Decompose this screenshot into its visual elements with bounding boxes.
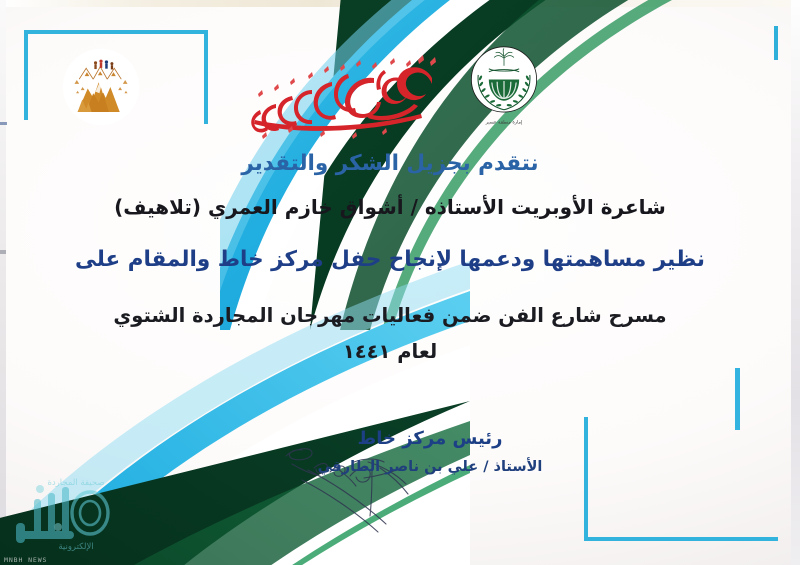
certificate-body: نتقدم بجزيل الشكر والتقدير شاعرة الأوبري… [40, 148, 740, 372]
frame-accent-right-middle [735, 368, 740, 430]
tribal-mountain-circular-logo [62, 48, 140, 126]
edge-mark-left-upper [0, 122, 7, 125]
calligraphy-svg [232, 48, 452, 144]
frame-bracket-bottom-right [584, 417, 778, 541]
emirate-of-asir-emblem: إمارة منطقة عسير [466, 40, 542, 128]
signature-block: رئيس مركز خاط الأستاذ / علي بن ناصر الطا… [300, 428, 560, 475]
mnbh-news-watermark-logo: صحيفة المجاردة الإلكترونية [6, 461, 134, 553]
scan-edge-top [0, 0, 800, 7]
body-line-4-venue: مسرح شارع الفن ضمن فعاليات مهرجان المجار… [40, 301, 740, 331]
frame-accent-top-right [774, 26, 778, 60]
edge-mark-left-lower [0, 250, 6, 254]
emirate-caption-text: إمارة منطقة عسير [485, 119, 523, 125]
body-line-1: نتقدم بجزيل الشكر والتقدير [40, 148, 740, 180]
watermark-caption-top: صحيفة المجاردة [47, 478, 104, 488]
body-line-3-reason: نظير مساهمتها ودعمها لإنجاح حفل مركز خاط… [40, 243, 740, 276]
watermark-tag: MNBH NEWS [4, 556, 47, 564]
signature-name: الأستاذ / علي بن ناصر الطارقي [300, 459, 560, 475]
calligraphy-title [232, 48, 452, 144]
body-line-5-year: لعام ١٤٤١ [40, 337, 740, 366]
certificate-page: إمارة منطقة عسير [0, 0, 800, 565]
watermark-caption-bottom: الإلكترونية [58, 542, 93, 552]
scan-edge-right [791, 0, 800, 565]
signature-title: رئيس مركز خاط [300, 428, 560, 449]
body-line-2-recipient: شاعرة الأوبريت الأستاذه / أشواق خازم الع… [40, 192, 740, 223]
frame-bracket-top-left-stem [24, 30, 28, 120]
